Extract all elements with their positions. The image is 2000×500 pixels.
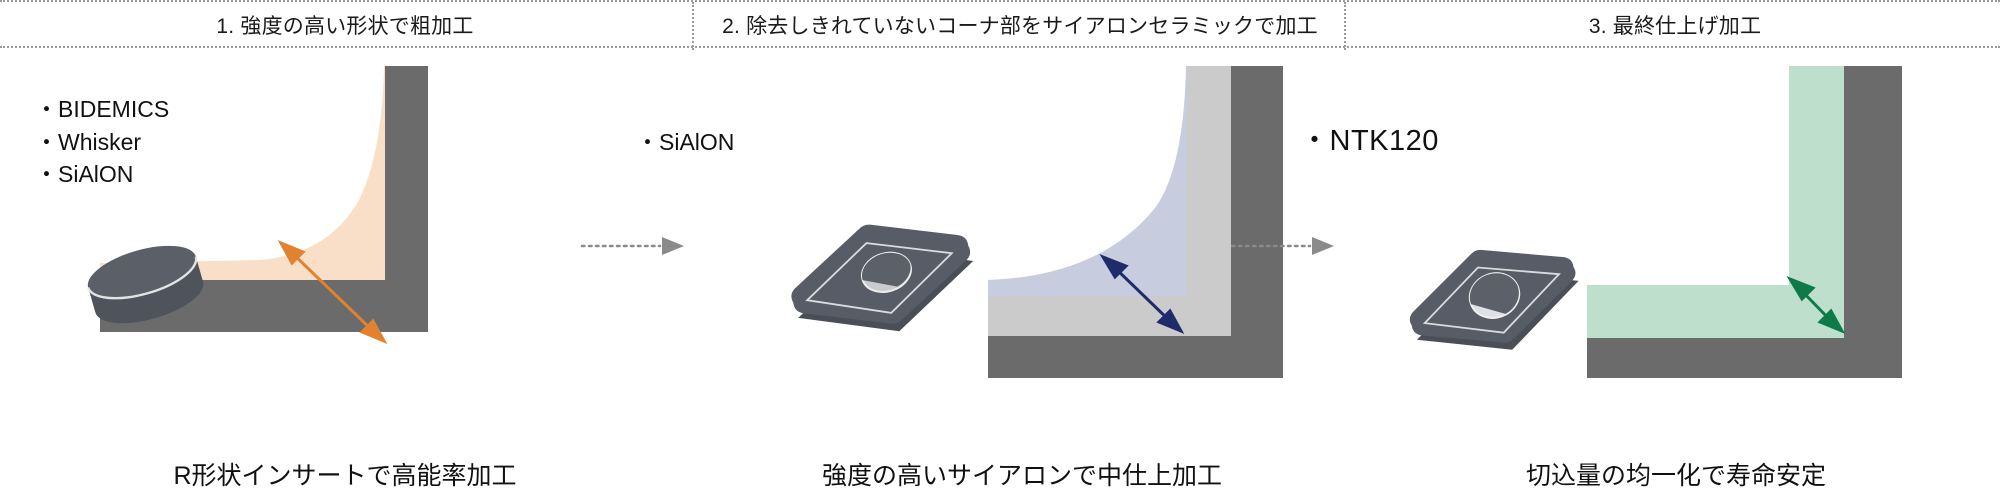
material-item: ・SiAlON: [35, 158, 169, 191]
process-flow-diagram: 1. 強度の高い形状で粗加工 2. 除去しきれていないコーナ部をサイアロンセラミ…: [0, 0, 2000, 500]
flow-arrow-2-to-3: [1230, 235, 1340, 257]
header-divider-1: [692, 2, 694, 50]
flow-arrow-head: [1312, 237, 1334, 255]
remaining-corner-stock: [988, 66, 1187, 296]
panel-finish: ・NTK120 切込量の均一化で寿命安定: [1352, 48, 2000, 500]
panel-semi-finish: ・SiAlON 強度の高いサイアロンで中仕上加工: [700, 48, 1344, 500]
prior-pass-layer-wall: [1187, 66, 1231, 336]
material-item: ・BIDEMICS: [35, 93, 169, 126]
panel-rough: ・BIDEMICS ・Whisker ・SiAlON R形状インサートで高能率加…: [0, 48, 690, 500]
material-item: ・SiAlON: [636, 126, 734, 159]
workpiece-floor: [1587, 338, 1902, 378]
step-2-title: 2. 除去しきれていないコーナ部をサイアロンセラミックで加工: [700, 2, 1340, 48]
panel-rough-caption: R形状インサートで高能率加工: [0, 456, 690, 492]
panel-finish-caption: 切込量の均一化で寿命安定: [1352, 456, 2000, 492]
flow-arrow-1-to-2: [580, 235, 690, 257]
panel-rough-material-list: ・BIDEMICS ・Whisker ・SiAlON: [35, 93, 169, 191]
workpiece-floor: [988, 336, 1283, 378]
panel-finish-material-list: ・NTK120: [1300, 121, 1439, 162]
panel-semi-finish-material-list: ・SiAlON: [636, 126, 734, 159]
rhombic-insert: [1395, 221, 1593, 379]
rhombic-insert: [777, 197, 987, 360]
material-item: ・Whisker: [35, 126, 169, 159]
header-divider-2: [1344, 2, 1346, 50]
step-3-title: 3. 最終仕上げ加工: [1350, 2, 2000, 48]
step-1-title: 1. 強度の高い形状で粗加工: [0, 2, 690, 48]
workpiece-wall: [1231, 66, 1283, 366]
header-band: 1. 強度の高い形状で粗加工 2. 除去しきれていないコーナ部をサイアロンセラミ…: [0, 0, 2000, 48]
flow-arrow-head: [662, 237, 684, 255]
panel-semi-finish-caption: 強度の高いサイアロンで中仕上加工: [700, 456, 1344, 492]
material-item: ・NTK120: [1300, 121, 1439, 162]
panel-semi-finish-diagram: [700, 48, 1344, 388]
panel-finish-diagram: [1352, 48, 2000, 388]
workpiece-wall: [1844, 66, 1902, 378]
